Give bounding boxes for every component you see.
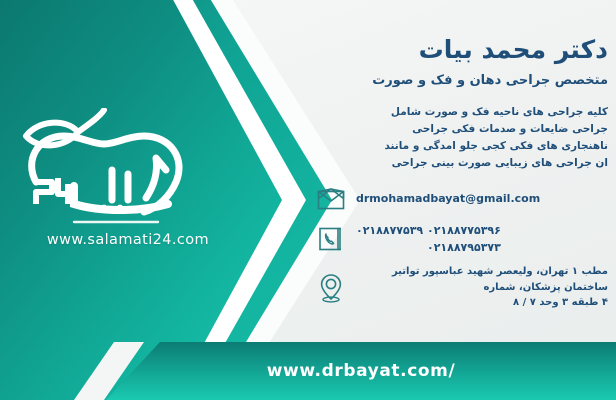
- salamati24-logo-icon: [8, 108, 248, 230]
- card-content: دکتر محمد بیات متخصص جراحی دهان و فک و ص…: [312, 34, 608, 319]
- location-pin-icon: [316, 273, 346, 303]
- description-line-1: کلیه جراحی های ناحیه فک و صورت شامل: [320, 104, 608, 121]
- services-description: کلیه جراحی های ناحیه فک و صورت شامل جراح…: [312, 104, 608, 172]
- phone-row[interactable]: ۰۲۱۸۸۷۷۵۳۹۶ ۰۲۱۸۸۷۷۵۳۹ ۰۲۱۸۸۷۹۵۳۷۳: [312, 222, 608, 256]
- logo-website: www.salamati24.com: [8, 232, 248, 248]
- phone-line-1[interactable]: ۰۲۱۸۸۷۷۵۳۹۶ ۰۲۱۸۸۷۷۵۳۹: [356, 222, 501, 239]
- address-text: مطب ۱ تهران، ولیعصر شهید عباسپور تواتیر …: [356, 264, 608, 311]
- phone-numbers[interactable]: ۰۲۱۸۸۷۷۵۳۹۶ ۰۲۱۸۸۷۷۵۳۹ ۰۲۱۸۸۷۹۵۳۷۳: [356, 222, 501, 256]
- footer-website[interactable]: www.drbayat.com/: [267, 361, 456, 381]
- address-line-1: مطب ۱ تهران، ولیعصر شهید عباسپور تواتیر …: [356, 264, 608, 295]
- phone-book-icon: [316, 224, 346, 254]
- email-row[interactable]: drmohamadbayat@gmail.com: [312, 184, 608, 214]
- doctor-specialty: متخصص جراحی دهان و فک و صورت: [312, 73, 608, 88]
- email-address[interactable]: drmohamadbayat@gmail.com: [356, 191, 540, 208]
- business-card: www.salamati24.com دکتر محمد بیات متخصص …: [0, 0, 616, 400]
- description-line-4: ان جراحی های زیبایی صورت بینی جراحی: [320, 155, 608, 172]
- brand-logo: www.salamati24.com: [8, 108, 248, 288]
- envelope-icon: [316, 184, 346, 214]
- address-line-2: ۴ طبقه ۳ وحد ۷ / ۸: [356, 295, 608, 311]
- address-row: مطب ۱ تهران، ولیعصر شهید عباسپور تواتیر …: [312, 264, 608, 311]
- doctor-name: دکتر محمد بیات: [312, 34, 608, 65]
- footer-url-bar[interactable]: www.drbayat.com/: [106, 342, 616, 400]
- description-line-3: ناهنجاری های فکی کجی جلو امدگی و مانند: [320, 138, 608, 155]
- description-line-2: جراحی ضایعات و صدمات فکی جراحی: [320, 121, 608, 138]
- phone-line-2[interactable]: ۰۲۱۸۸۷۹۵۳۷۳: [356, 239, 501, 256]
